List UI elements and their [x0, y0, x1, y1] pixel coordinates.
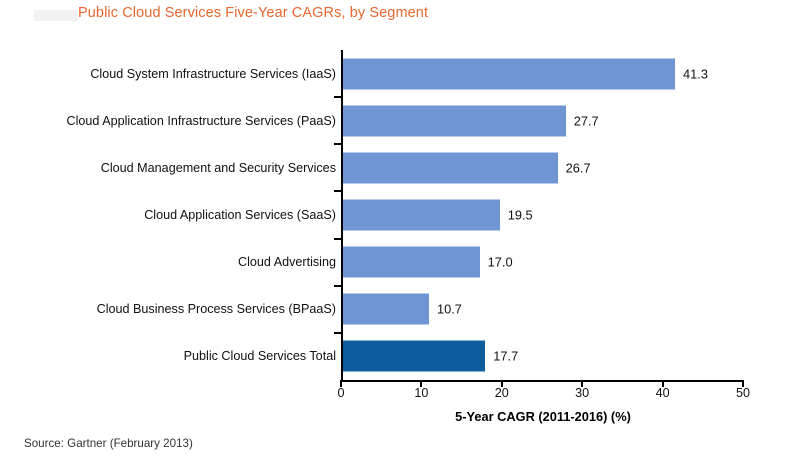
category-label: Public Cloud Services Total — [184, 349, 336, 363]
bar[interactable] — [343, 200, 500, 231]
bar[interactable] — [343, 341, 485, 372]
x-axis-title: 5-Year CAGR (2011-2016) (%) — [455, 409, 631, 424]
category-label: Cloud Application Infrastructure Service… — [67, 114, 337, 128]
category-label: Cloud Application Services (SaaS) — [144, 208, 336, 222]
bar-row: Cloud Business Process Services (BPaaS)1… — [0, 286, 792, 333]
x-axis-tick-label: 20 — [495, 386, 509, 400]
bar-row: Cloud Application Infrastructure Service… — [0, 97, 792, 144]
chart-page: Public Cloud Services Five-Year CAGRs, b… — [0, 0, 792, 466]
bar[interactable] — [343, 152, 558, 183]
x-axis-tick-label: 50 — [736, 386, 750, 400]
category-label: Cloud Business Process Services (BPaaS) — [97, 302, 336, 316]
bar-chart-plot: Cloud System Infrastructure Services (Ia… — [0, 0, 792, 466]
source-note: Source: Gartner (February 2013) — [24, 437, 193, 450]
x-axis-tick-label: 30 — [575, 386, 589, 400]
bar-value-label: 27.7 — [574, 113, 599, 128]
category-label: Cloud System Infrastructure Services (Ia… — [90, 67, 336, 81]
bar-value-label: 17.0 — [488, 255, 513, 270]
bar-row: Public Cloud Services Total17.7 — [0, 333, 792, 380]
bar[interactable] — [343, 105, 566, 136]
bar-row: Cloud Application Services (SaaS)19.5 — [0, 191, 792, 238]
bar-value-label: 26.7 — [566, 160, 591, 175]
x-axis-tick-label: 40 — [656, 386, 670, 400]
x-axis-line — [341, 380, 744, 382]
bar[interactable] — [343, 58, 675, 89]
bar-row: Cloud Management and Security Services26… — [0, 144, 792, 191]
category-label: Cloud Management and Security Services — [101, 161, 336, 175]
bar-value-label: 19.5 — [508, 208, 533, 223]
bar-value-label: 10.7 — [437, 302, 462, 317]
x-axis-tick-label: 0 — [337, 386, 344, 400]
bar[interactable] — [343, 294, 429, 325]
bar-value-label: 17.7 — [493, 349, 518, 364]
category-label: Cloud Advertising — [238, 255, 336, 269]
x-axis-tick-label: 10 — [414, 386, 428, 400]
bar-row: Cloud System Infrastructure Services (Ia… — [0, 50, 792, 97]
bar[interactable] — [343, 247, 480, 278]
bar-row: Cloud Advertising17.0 — [0, 239, 792, 286]
bar-value-label: 41.3 — [683, 66, 708, 81]
